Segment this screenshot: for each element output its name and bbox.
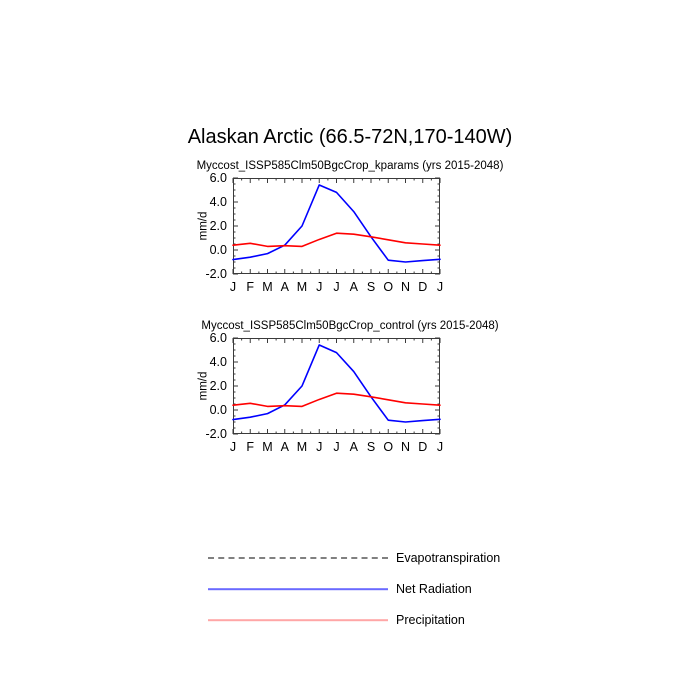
- x-tick-label: J: [230, 440, 236, 454]
- legend-swatch-dashed: [208, 557, 388, 559]
- y-tick-label: -2.0: [205, 427, 227, 441]
- x-tick-label: O: [383, 280, 393, 294]
- plot-lines: [233, 178, 440, 274]
- x-tick-label: N: [401, 280, 410, 294]
- legend-item[interactable]: Net Radiation: [208, 579, 608, 599]
- legend-swatch-solid: [208, 588, 388, 590]
- legend: EvapotranspirationNet RadiationPrecipita…: [0, 548, 700, 658]
- legend-item[interactable]: Precipitation: [208, 610, 608, 630]
- x-tick-label: N: [401, 440, 410, 454]
- x-tick-label: J: [230, 280, 236, 294]
- x-tick-label: F: [246, 440, 254, 454]
- plot-lines: [233, 338, 440, 434]
- x-tick-label: J: [333, 440, 339, 454]
- y-tick-label: 6.0: [210, 171, 227, 185]
- x-tick-label: F: [246, 280, 254, 294]
- y-tick-label: 2.0: [210, 219, 227, 233]
- y-tick-label: 0.0: [210, 243, 227, 257]
- x-tick-label: M: [262, 440, 272, 454]
- x-tick-label: S: [367, 440, 375, 454]
- x-tick-label: J: [316, 440, 322, 454]
- legend-swatch-solid: [208, 619, 388, 621]
- x-tick-label: A: [281, 440, 289, 454]
- x-tick-label: M: [297, 440, 307, 454]
- x-tick-label: D: [418, 280, 427, 294]
- x-tick-label: J: [437, 440, 443, 454]
- figure-canvas: Alaskan Arctic (66.5-72N,170-140W) Mycco…: [0, 0, 700, 700]
- x-tick-label: M: [262, 280, 272, 294]
- x-tick-label: A: [281, 280, 289, 294]
- y-axis-label: mm/d: [197, 372, 209, 401]
- plot-area: mm/d -2.00.02.04.06.0JFMAMJJASONDJ: [233, 178, 440, 274]
- series-line: [233, 345, 440, 422]
- x-tick-label: J: [333, 280, 339, 294]
- x-tick-label: J: [437, 280, 443, 294]
- y-tick-label: 0.0: [210, 403, 227, 417]
- y-tick-label: 4.0: [210, 195, 227, 209]
- x-tick-label: A: [350, 440, 358, 454]
- legend-label: Precipitation: [396, 613, 465, 627]
- chart-subtitle: Myccost_ISSP585Clm50BgcCrop_control (yrs…: [0, 320, 700, 332]
- series-line: [233, 233, 440, 246]
- page-title: Alaskan Arctic (66.5-72N,170-140W): [0, 126, 700, 149]
- x-tick-label: M: [297, 280, 307, 294]
- y-tick-label: 2.0: [210, 379, 227, 393]
- chart-subtitle: Myccost_ISSP585Clm50BgcCrop_kparams (yrs…: [0, 160, 700, 172]
- x-tick-label: J: [316, 280, 322, 294]
- legend-label: Net Radiation: [396, 582, 472, 596]
- series-line: [233, 393, 440, 406]
- y-tick-label: 6.0: [210, 331, 227, 345]
- y-axis-label: mm/d: [197, 212, 209, 241]
- x-tick-label: O: [383, 440, 393, 454]
- x-tick-label: S: [367, 280, 375, 294]
- x-tick-label: D: [418, 440, 427, 454]
- x-tick-label: A: [350, 280, 358, 294]
- y-tick-label: -2.0: [205, 267, 227, 281]
- y-tick-label: 4.0: [210, 355, 227, 369]
- plot-area: mm/d -2.00.02.04.06.0JFMAMJJASONDJ: [233, 338, 440, 434]
- series-line: [233, 185, 440, 262]
- legend-label: Evapotranspiration: [396, 551, 500, 565]
- legend-item[interactable]: Evapotranspiration: [208, 548, 608, 568]
